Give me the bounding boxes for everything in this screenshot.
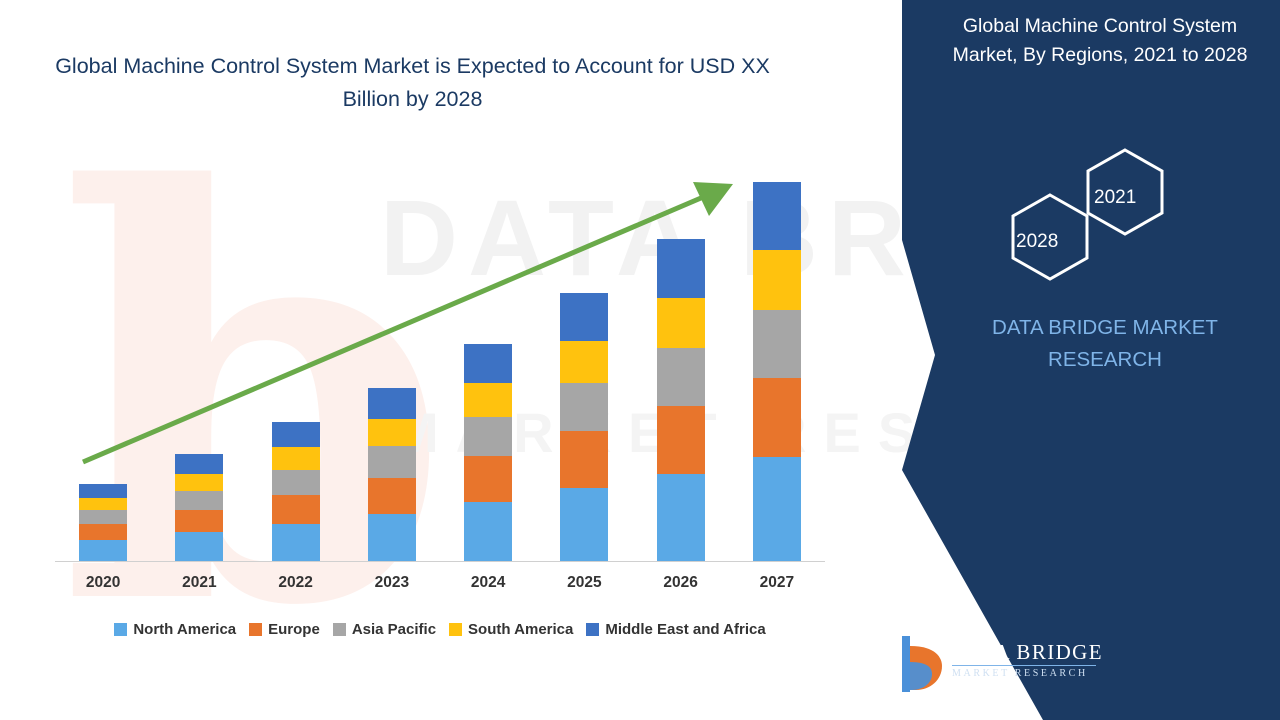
bridge-logo-icon bbox=[892, 632, 948, 696]
x-axis-label: 2027 bbox=[732, 574, 822, 592]
chart-legend: North AmericaEuropeAsia PacificSouth Ame… bbox=[55, 618, 825, 640]
x-axis-label: 2024 bbox=[443, 574, 533, 592]
hexagon-icons bbox=[980, 145, 1220, 290]
right-panel-brand: DATA BRIDGE MARKET RESEARCH bbox=[960, 312, 1250, 376]
legend-item: North America bbox=[114, 621, 236, 638]
x-axis-label: 2020 bbox=[58, 574, 148, 592]
x-axis-labels: 20202021202220232024202520262027 bbox=[55, 574, 825, 600]
legend-swatch bbox=[449, 623, 462, 636]
right-panel-title: Global Machine Control System Market, By… bbox=[940, 12, 1260, 70]
x-axis-label: 2021 bbox=[154, 574, 244, 592]
legend-label: South America bbox=[468, 621, 573, 638]
company-logo: DATA BRIDGE MARKET RESEARCH bbox=[892, 632, 1122, 704]
x-axis-label: 2023 bbox=[347, 574, 437, 592]
hexagon-group: 2021 2028 bbox=[980, 145, 1220, 290]
hex-label-2021: 2021 bbox=[1094, 187, 1136, 209]
logo-title: DATA BRIDGE bbox=[951, 640, 1103, 665]
legend-label: Asia Pacific bbox=[352, 621, 436, 638]
legend-label: North America bbox=[133, 621, 236, 638]
legend-item: Middle East and Africa bbox=[586, 621, 765, 638]
legend-swatch bbox=[586, 623, 599, 636]
logo-subtitle: MARKET RESEARCH bbox=[952, 668, 1088, 679]
legend-item: Europe bbox=[249, 621, 320, 638]
legend-label: Europe bbox=[268, 621, 320, 638]
legend-item: Asia Pacific bbox=[333, 621, 436, 638]
legend-swatch bbox=[114, 623, 127, 636]
chart-title: Global Machine Control System Market is … bbox=[40, 50, 785, 116]
logo-divider bbox=[952, 665, 1096, 666]
x-axis-label: 2025 bbox=[539, 574, 629, 592]
legend-swatch bbox=[333, 623, 346, 636]
legend-label: Middle East and Africa bbox=[605, 621, 765, 638]
x-axis-label: 2022 bbox=[251, 574, 341, 592]
x-axis-label: 2026 bbox=[636, 574, 726, 592]
hex-label-2028: 2028 bbox=[1016, 231, 1058, 253]
infographic-page: b DATA BRIDGE MARKET RESEARCH Global Mac… bbox=[0, 0, 1280, 720]
legend-swatch bbox=[249, 623, 262, 636]
legend-item: South America bbox=[449, 621, 573, 638]
growth-arrow-icon bbox=[55, 150, 825, 562]
